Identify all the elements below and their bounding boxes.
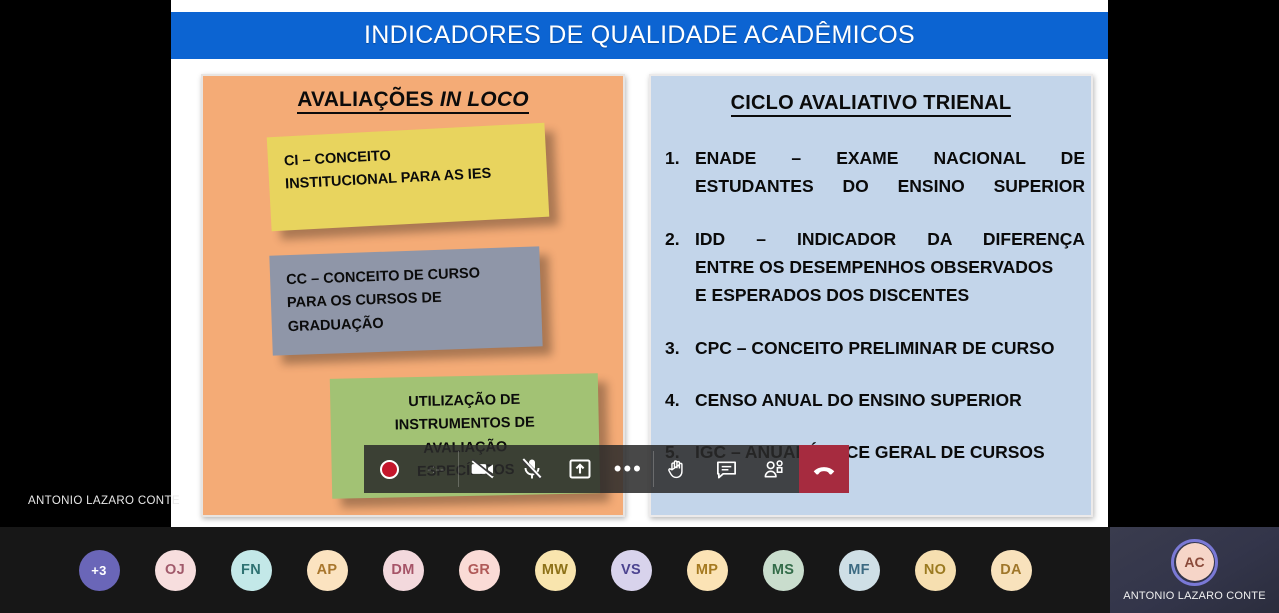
meeting-window: INDICADORES DE QUALIDADE ACADÊMICOS AVAL…	[0, 0, 1279, 613]
item-1-number: 1.	[665, 144, 695, 201]
item-2-line1: IDD – INDICADOR DA DIFERENÇA	[695, 225, 1085, 253]
trienal-list: 1. ENADE – EXAME NACIONAL DE ESTUDANTES …	[665, 144, 1085, 491]
item-4-number: 4.	[665, 386, 695, 414]
item-3-number: 3.	[665, 334, 695, 362]
more-options-icon: •••	[614, 464, 643, 474]
right-heading-text: CICLO AVALIATIVO TRIENAL	[731, 92, 1012, 117]
participant-avatar[interactable]: VS	[611, 550, 652, 591]
item-2-number: 2.	[665, 225, 695, 310]
participants-icon	[763, 458, 786, 481]
shared-screen-stage: INDICADORES DE QUALIDADE ACADÊMICOS AVAL…	[0, 0, 1279, 527]
participant-avatar[interactable]: DA	[991, 550, 1032, 591]
participant-avatar[interactable]: GR	[459, 550, 500, 591]
sticky-note-ci: CI – CONCEITO INSTITUCIONAL PARA AS IES	[267, 123, 550, 231]
participant-avatar[interactable]: MS	[763, 550, 804, 591]
participant-avatar[interactable]: MP	[687, 550, 728, 591]
hang-up-icon	[811, 456, 837, 482]
participant-avatar[interactable]: FN	[231, 550, 272, 591]
slide-title: INDICADORES DE QUALIDADE ACADÊMICOS	[364, 21, 915, 50]
microphone-muted-button[interactable]	[507, 445, 555, 493]
record-button[interactable]	[364, 445, 414, 493]
recording-timer: -:--	[414, 462, 458, 476]
hang-up-button[interactable]	[799, 445, 849, 493]
list-item: 2. IDD – INDICADOR DA DIFERENÇA ENTRE OS…	[665, 225, 1085, 310]
item-2-line2: ENTRE OS DESEMPENHOS OBSERVADOS	[695, 253, 1085, 281]
raise-hand-button[interactable]	[654, 445, 702, 493]
left-heading-italic: IN LOCO	[440, 88, 529, 111]
more-options-button[interactable]: •••	[604, 445, 652, 493]
left-heading-main: AVALIAÇÕES	[297, 88, 440, 111]
item-2-line3: E ESPERADOS DOS DISCENTES	[695, 281, 1085, 309]
left-panel-heading: AVALIAÇÕES IN LOCO	[203, 88, 623, 112]
participant-avatar[interactable]: DM	[383, 550, 424, 591]
participant-avatar[interactable]: AP	[307, 550, 348, 591]
participant-filmstrip: +3 OJ FN AP DM GR MW VS MP MS MF NO DA	[0, 527, 1110, 613]
self-avatar: AC	[1176, 543, 1214, 581]
item-1-line1: ENADE – EXAME NACIONAL DE	[695, 144, 1085, 172]
share-screen-button[interactable]	[556, 445, 604, 493]
self-view-name: ANTONIO LAZARO CONTE	[1123, 590, 1266, 602]
chat-button[interactable]	[702, 445, 750, 493]
record-icon	[380, 460, 399, 479]
participant-avatar[interactable]: MW	[535, 550, 576, 591]
list-item: 4. CENSO ANUAL DO ENSINO SUPERIOR	[665, 386, 1085, 414]
slide-title-bar: INDICADORES DE QUALIDADE ACADÊMICOS	[171, 12, 1108, 59]
participants-button[interactable]	[750, 445, 798, 493]
list-item: 1. ENADE – EXAME NACIONAL DE ESTUDANTES …	[665, 144, 1085, 201]
speaking-indicator-ring: AC	[1171, 539, 1218, 586]
chat-icon	[715, 458, 738, 481]
right-panel-heading: CICLO AVALIATIVO TRIENAL	[651, 92, 1091, 115]
participant-avatar[interactable]: MF	[839, 550, 880, 591]
item-3-text: CPC – CONCEITO PRELIMINAR DE CURSO	[695, 334, 1085, 362]
share-screen-icon	[568, 457, 592, 481]
participant-avatar[interactable]: OJ	[155, 550, 196, 591]
camera-off-button[interactable]	[459, 445, 507, 493]
sticky-note-cc: CC – CONCEITO DE CURSO PARA OS CURSOS DE…	[269, 246, 542, 355]
list-item: 3. CPC – CONCEITO PRELIMINAR DE CURSO	[665, 334, 1085, 362]
meeting-toolbar: -:--	[364, 445, 849, 493]
presenter-name-label: ANTONIO LAZARO CONTE	[28, 495, 180, 507]
raise-hand-icon	[666, 458, 689, 481]
overflow-participants-badge[interactable]: +3	[79, 550, 120, 591]
self-view-tile[interactable]: AC ANTONIO LAZARO CONTE	[1110, 527, 1279, 613]
microphone-muted-icon	[520, 457, 544, 481]
item-4-text: CENSO ANUAL DO ENSINO SUPERIOR	[695, 386, 1085, 414]
item-1-line2: ESTUDANTES DO ENSINO SUPERIOR	[695, 172, 1085, 200]
participant-avatar[interactable]: NO	[915, 550, 956, 591]
camera-off-icon	[470, 456, 496, 482]
